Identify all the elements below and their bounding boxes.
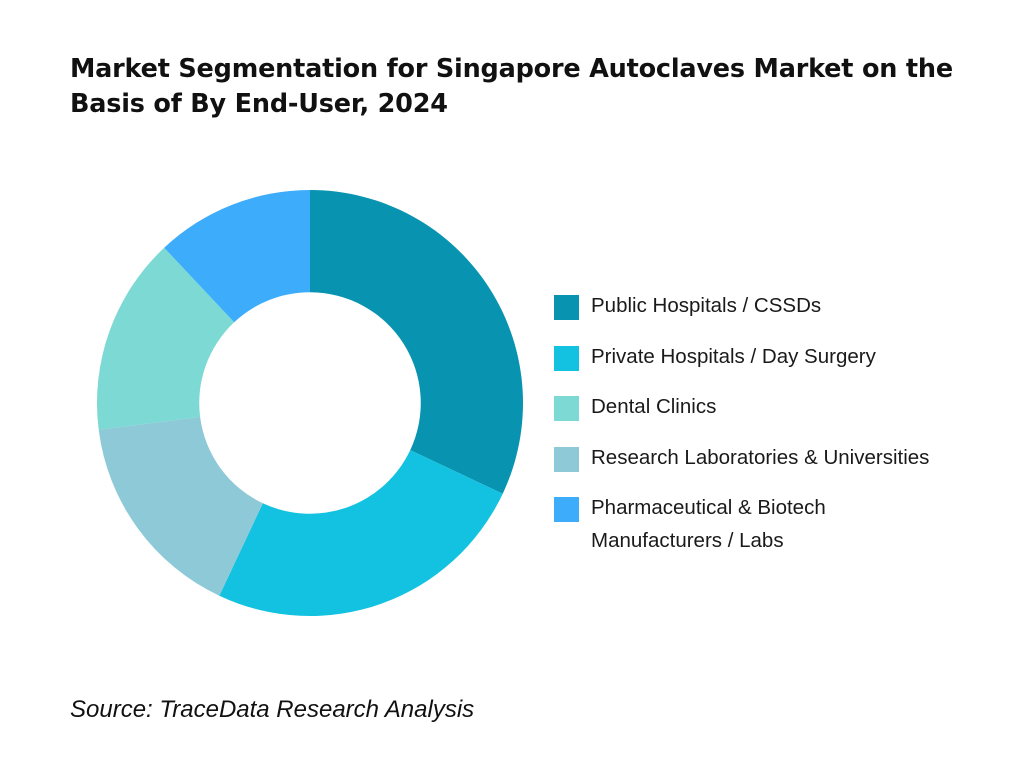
donut-chart-figure: Market Segmentation for Singapore Autocl…	[0, 0, 1024, 768]
legend-item[interactable]: Dental Clinics	[554, 395, 1014, 423]
legend-item[interactable]: Pharmaceutical & Biotech Manufacturers /…	[554, 496, 1014, 557]
legend-swatch-icon	[554, 346, 579, 371]
legend-item-label: Public Hospitals / CSSDs	[591, 289, 821, 322]
legend-item[interactable]: Research Laboratories & Universities	[554, 446, 1014, 474]
donut-slice-group: Public Hospitals / CSSDs: 32%Private Hos…	[97, 190, 523, 616]
legend-item-label: Research Laboratories & Universities	[591, 441, 929, 474]
donut-chart-svg: Public Hospitals / CSSDs: 32%Private Hos…	[97, 190, 523, 616]
legend-swatch-icon	[554, 396, 579, 421]
legend-swatch-icon	[554, 295, 579, 320]
donut-slice[interactable]: Private Hospitals / Day Surgery: 25%	[219, 450, 502, 616]
legend-item-label: Pharmaceutical & Biotech Manufacturers /…	[591, 491, 826, 557]
legend-item[interactable]: Public Hospitals / CSSDs	[554, 294, 1014, 322]
chart-legend: Public Hospitals / CSSDsPrivate Hospital…	[554, 294, 1014, 580]
legend-item-label: Private Hospitals / Day Surgery	[591, 340, 876, 373]
chart-title: Market Segmentation for Singapore Autocl…	[70, 52, 975, 122]
donut-slice[interactable]: Public Hospitals / CSSDs: 32%	[310, 190, 523, 494]
legend-swatch-icon	[554, 447, 579, 472]
legend-item-label: Dental Clinics	[591, 390, 716, 423]
source-note: Source: TraceData Research Analysis	[70, 696, 474, 724]
donut-chart: Public Hospitals / CSSDs: 32%Private Hos…	[97, 190, 523, 616]
legend-swatch-icon	[554, 497, 579, 522]
legend-item[interactable]: Private Hospitals / Day Surgery	[554, 345, 1014, 373]
